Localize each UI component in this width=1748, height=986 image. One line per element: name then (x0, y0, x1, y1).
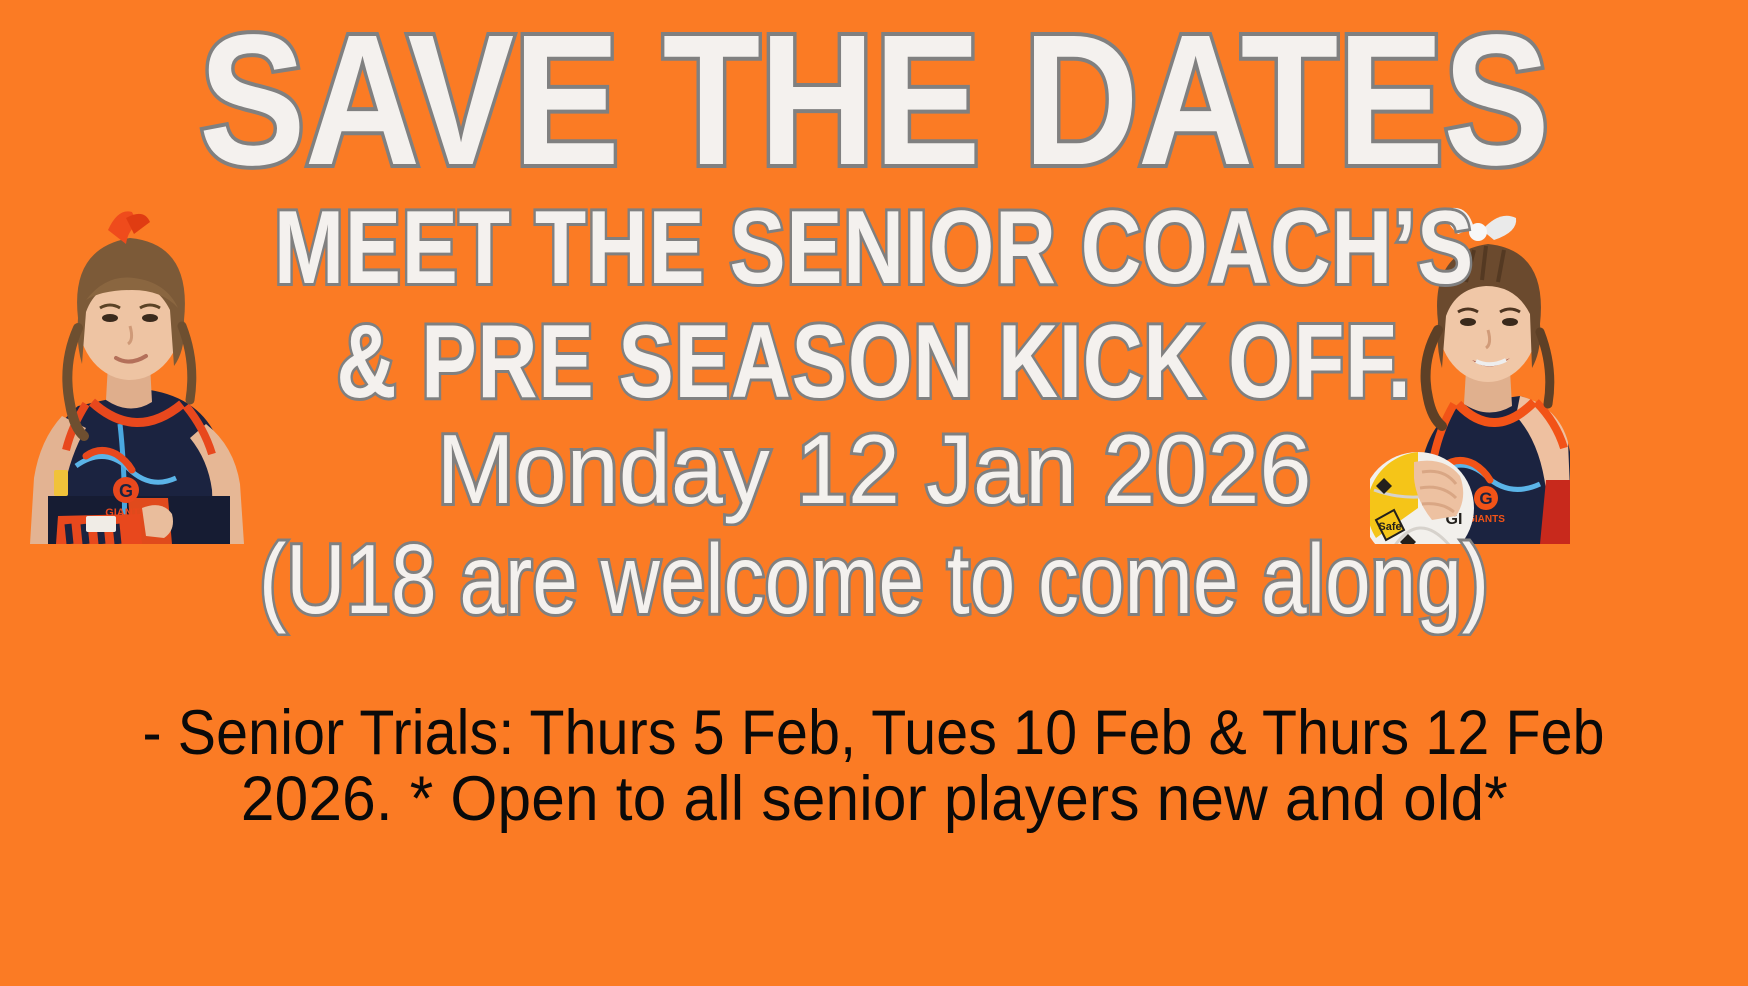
event-date: Monday 12 Jan 2026 (39, 420, 1710, 518)
page-title: SAVE THE DATES (123, 8, 1625, 194)
headline-line-2: & PRE SEASON KICK OFF. (176, 310, 1573, 414)
footer-line-2: 2026. * Open to all senior players new a… (240, 766, 1507, 832)
footer-block: - Senior Trials: Thurs 5 Feb, Tues 10 Fe… (0, 700, 1748, 832)
headline-line-1: MEET THE SENIOR COACH’S (168, 196, 1581, 300)
headline-note-u18: (U18 are welcome to come along) (143, 530, 1605, 628)
poster-canvas: G GIANTS (0, 0, 1748, 986)
footer-line-1: - Senior Trials: Thurs 5 Feb, Tues 10 Fe… (143, 700, 1605, 766)
